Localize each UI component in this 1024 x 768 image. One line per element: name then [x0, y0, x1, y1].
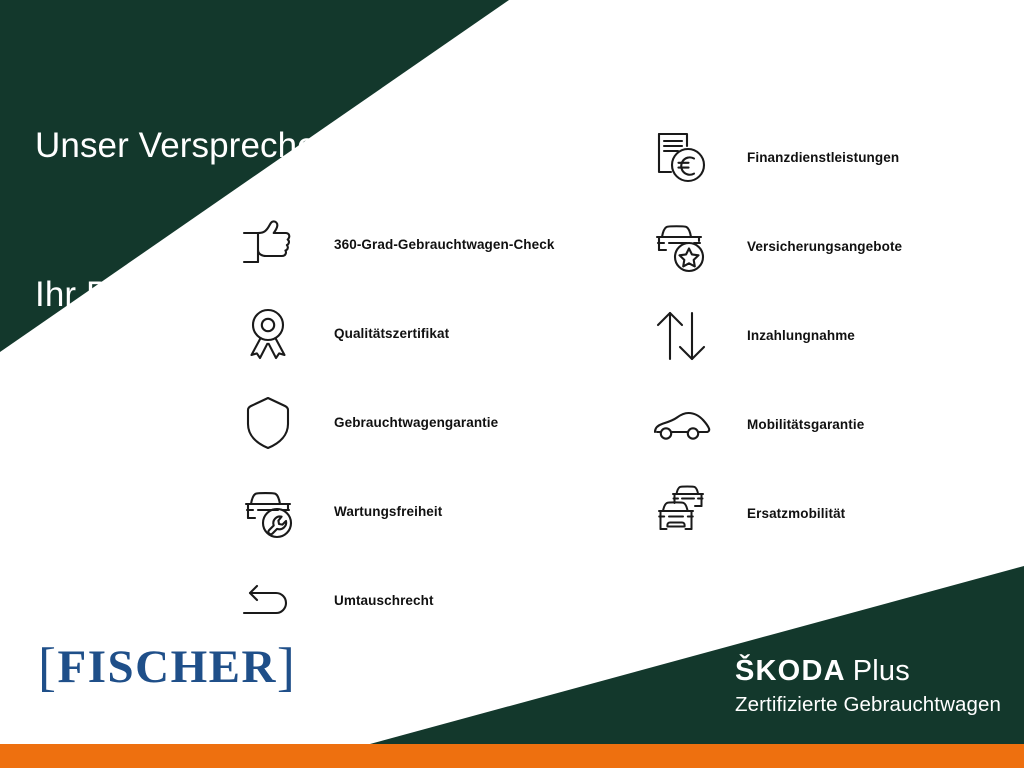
- benefit-item: Ersatzmobilität: [645, 469, 902, 558]
- benefits-column-right: Finanzdienstleistungen Versicherungsange…: [645, 113, 902, 558]
- dealer-logo-bracket-close: ]: [277, 637, 296, 697]
- promo-banner: Unser Versprechen. Ihr Plus. 360-Grad-Ge…: [0, 0, 1024, 768]
- benefits-column-left: 360-Grad-Gebrauchtwagen-Check Qualitätsz…: [232, 200, 554, 645]
- benefit-item: Wartungsfreiheit: [232, 467, 554, 556]
- benefit-label: Finanzdienstleistungen: [747, 150, 899, 165]
- shield-icon: [232, 387, 304, 459]
- plus-wordmark: Plus: [853, 655, 910, 687]
- benefit-label: 360-Grad-Gebrauchtwagen-Check: [334, 237, 554, 252]
- benefit-item: Qualitätszertifikat: [232, 289, 554, 378]
- benefit-label: Umtauschrecht: [334, 593, 434, 608]
- benefit-label: Ersatzmobilität: [747, 506, 845, 521]
- benefit-label: Qualitätszertifikat: [334, 326, 449, 341]
- orange-bottom-bar: [0, 744, 1024, 768]
- return-arrow-icon: [232, 565, 304, 637]
- benefit-item: Gebrauchtwagengarantie: [232, 378, 554, 467]
- benefit-label: Versicherungsangebote: [747, 239, 902, 254]
- award-rosette-icon: [232, 298, 304, 370]
- benefit-label: Inzahlungnahme: [747, 328, 855, 343]
- brand-wordmark-row: ŠKODAPlus: [735, 657, 1001, 686]
- dealer-logo: [FISCHER]: [38, 640, 296, 694]
- benefit-label: Gebrauchtwagengarantie: [334, 415, 498, 430]
- benefit-label: Mobilitätsgarantie: [747, 417, 864, 432]
- headline-line-1: Unser Versprechen.: [35, 121, 346, 171]
- thumbs-up-icon: [232, 209, 304, 281]
- dealer-logo-name: FISCHER: [57, 641, 276, 693]
- document-euro-icon: [645, 122, 717, 194]
- benefit-label: Wartungsfreiheit: [334, 504, 442, 519]
- car-side-icon: [645, 389, 717, 461]
- skoda-wordmark: ŠKODA: [735, 655, 846, 687]
- brand-tagline: Zertifizierte Gebrauchtwagen: [735, 695, 1001, 716]
- up-down-arrows-icon: [645, 300, 717, 372]
- two-cars-icon: [645, 478, 717, 550]
- benefit-item: 360-Grad-Gebrauchtwagen-Check: [232, 200, 554, 289]
- dealer-logo-bracket-open: [: [38, 637, 57, 697]
- benefit-item: Finanzdienstleistungen: [645, 113, 902, 202]
- brand-lockup: ŠKODAPlus Zertifizierte Gebrauchtwagen: [735, 657, 1001, 716]
- car-wrench-icon: [232, 476, 304, 548]
- car-star-icon: [645, 211, 717, 283]
- benefit-item: Mobilitätsgarantie: [645, 380, 902, 469]
- benefit-item: Inzahlungnahme: [645, 291, 902, 380]
- benefit-item: Umtauschrecht: [232, 556, 554, 645]
- benefit-item: Versicherungsangebote: [645, 202, 902, 291]
